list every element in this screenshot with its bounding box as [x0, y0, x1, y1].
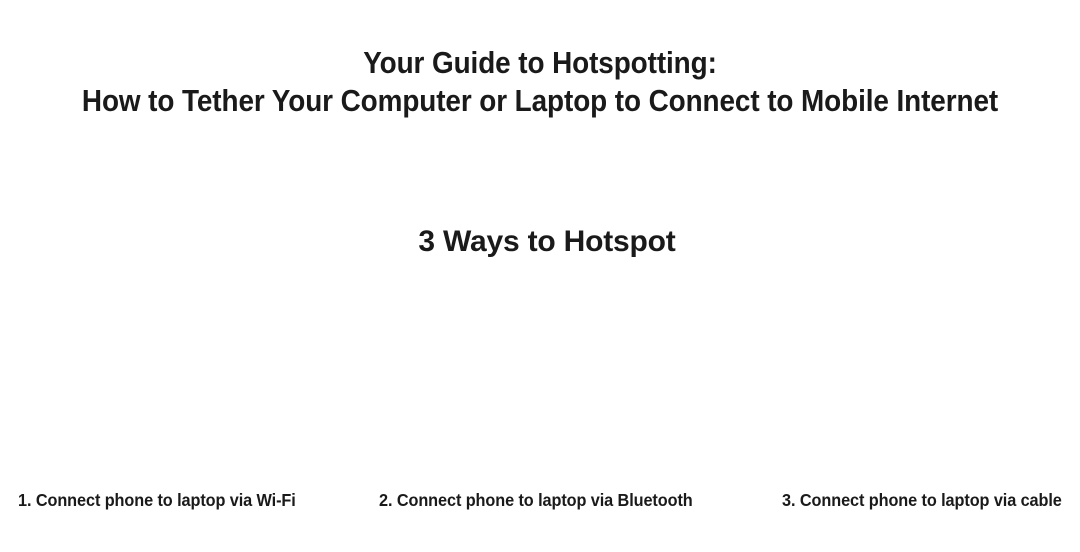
method-panel-2	[360, 286, 720, 476]
subtitle-text: 3 Ways to Hotspot	[418, 222, 675, 262]
method-caption-1: 1. Connect phone to laptop via Wi-Fi	[18, 488, 296, 512]
title-line-1: Your Guide to Hotspotting:	[54, 44, 1026, 82]
title-line-2: How to Tether Your Computer or Laptop to…	[54, 82, 1026, 120]
bluetooth-illustration-image	[360, 286, 720, 476]
method-caption-2: 2. Connect phone to laptop via Bluetooth	[379, 488, 693, 512]
subtitle-heading: 3 Ways to Hotspot	[0, 222, 1080, 262]
method-panel-3	[720, 286, 1080, 476]
cable-illustration-image	[720, 286, 1080, 476]
caption-row: 1. Connect phone to laptop via Wi-Fi 2. …	[0, 488, 1080, 518]
method-caption-3: 3. Connect phone to laptop via cable	[782, 488, 1062, 512]
infographic-page: Your Guide to Hotspotting: How to Tether…	[0, 0, 1080, 552]
illustration-row	[0, 286, 1080, 476]
page-title: Your Guide to Hotspotting: How to Tether…	[0, 44, 1080, 120]
method-panel-1	[0, 286, 360, 476]
wifi-illustration-image	[0, 286, 360, 476]
